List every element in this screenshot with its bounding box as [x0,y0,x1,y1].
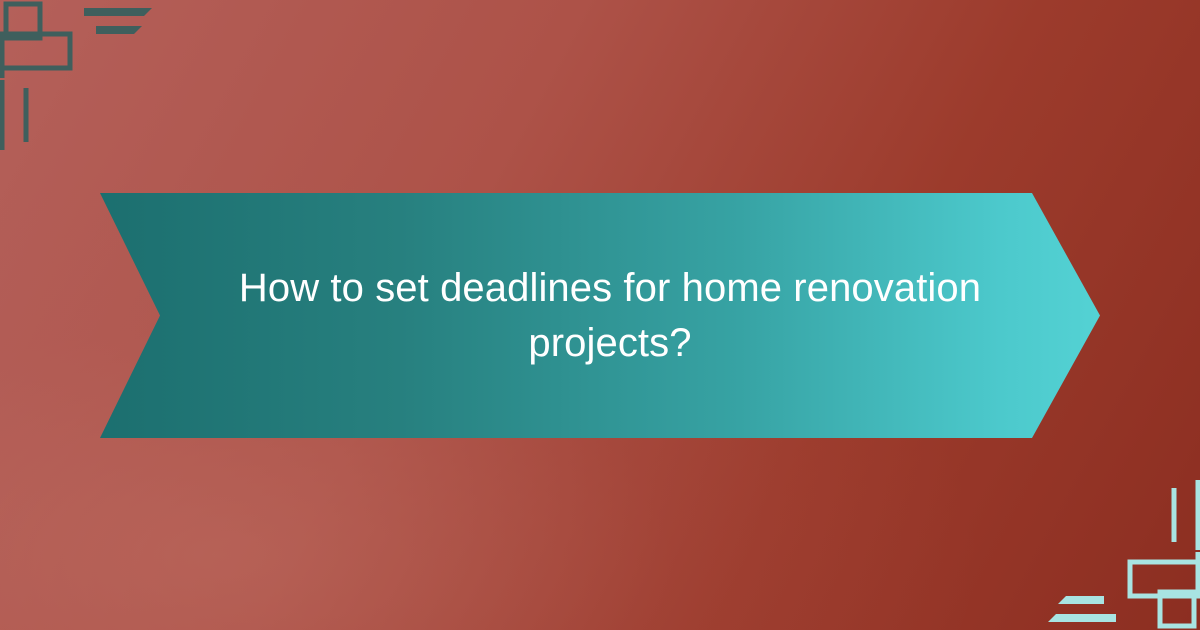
headline-banner: How to set deadlines for home renovation… [100,193,1100,438]
banner-card: How to set deadlines for home renovation… [0,0,1200,630]
headline-text: How to set deadlines for home renovation… [230,260,990,370]
